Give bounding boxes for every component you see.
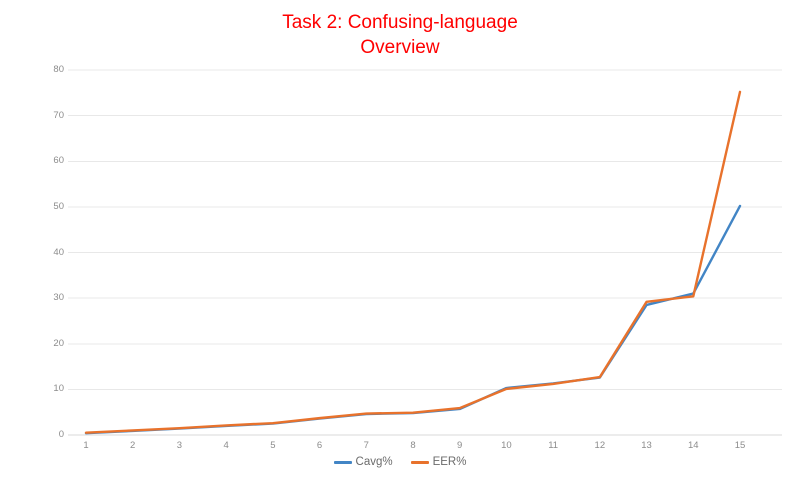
legend-label: Cavg% [356,456,393,469]
legend-swatch-icon [411,461,429,464]
x-tick-label: 15 [735,440,746,452]
series-line-cavg [86,206,740,433]
y-tick-label: 10 [28,384,64,394]
y-tick-label: 60 [28,156,64,166]
y-tick-label: 20 [28,339,64,349]
x-tick-label: 9 [457,440,462,452]
plot-svg [68,70,782,435]
x-tick-label: 13 [641,440,652,452]
x-tick-label: 8 [410,440,415,452]
y-axis-labels: 01020304050607080 [20,0,64,479]
y-tick-label: 70 [28,111,64,121]
x-tick-label: 3 [177,440,182,452]
y-tick-label: 50 [28,202,64,212]
x-tick-label: 10 [501,440,512,452]
y-tick-label: 40 [28,248,64,258]
x-tick-label: 7 [364,440,369,452]
y-tick-label: 0 [28,430,64,440]
legend-item-eer[interactable]: EER% [411,456,467,469]
series-line-eer [86,92,740,433]
y-tick-label: 80 [28,65,64,75]
x-tick-label: 11 [548,440,558,452]
x-tick-label: 6 [317,440,322,452]
y-tick-label: 30 [28,293,64,303]
x-tick-label: 2 [130,440,135,452]
x-axis-labels: 123456789101112131415 [68,440,782,456]
x-tick-label: 1 [83,440,88,452]
plot-area [68,70,782,435]
x-tick-label: 5 [270,440,275,452]
x-tick-label: 12 [595,440,606,452]
gridlines [68,70,782,435]
chart-title: Task 2: Confusing-language Overview [0,10,800,60]
legend-label: EER% [433,456,467,469]
line-chart: Task 2: Confusing-language Overview 0102… [0,0,800,479]
legend-swatch-icon [334,461,352,464]
chart-legend: Cavg%EER% [0,456,800,469]
x-tick-label: 14 [688,440,699,452]
legend-item-cavg[interactable]: Cavg% [334,456,393,469]
series-lines [86,92,740,433]
x-tick-label: 4 [223,440,228,452]
